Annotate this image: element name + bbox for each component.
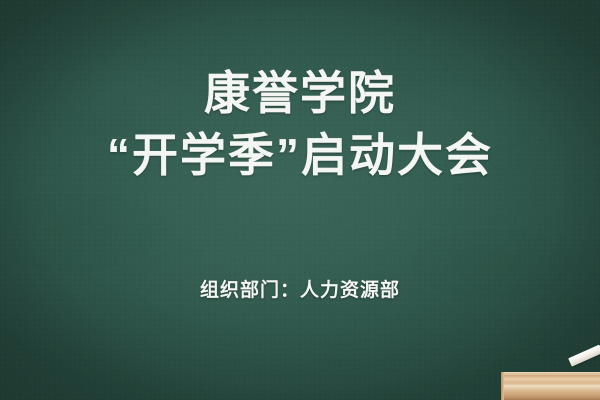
wooden-chalk-ledge <box>501 374 600 400</box>
slide-title: 康誉学院 “开学季”启动大会 <box>0 62 600 186</box>
presentation-slide: 康誉学院 “开学季”启动大会 组织部门：人力资源部 <box>0 0 600 400</box>
slide-subtitle-organizing-department: 组织部门：人力资源部 <box>0 278 600 304</box>
slide-content: 康誉学院 “开学季”启动大会 组织部门：人力资源部 <box>0 0 600 400</box>
chalk-ledge-left-cap <box>501 372 504 400</box>
title-line-1: 康誉学院 <box>0 62 600 124</box>
title-line-2: “开学季”启动大会 <box>0 124 600 186</box>
